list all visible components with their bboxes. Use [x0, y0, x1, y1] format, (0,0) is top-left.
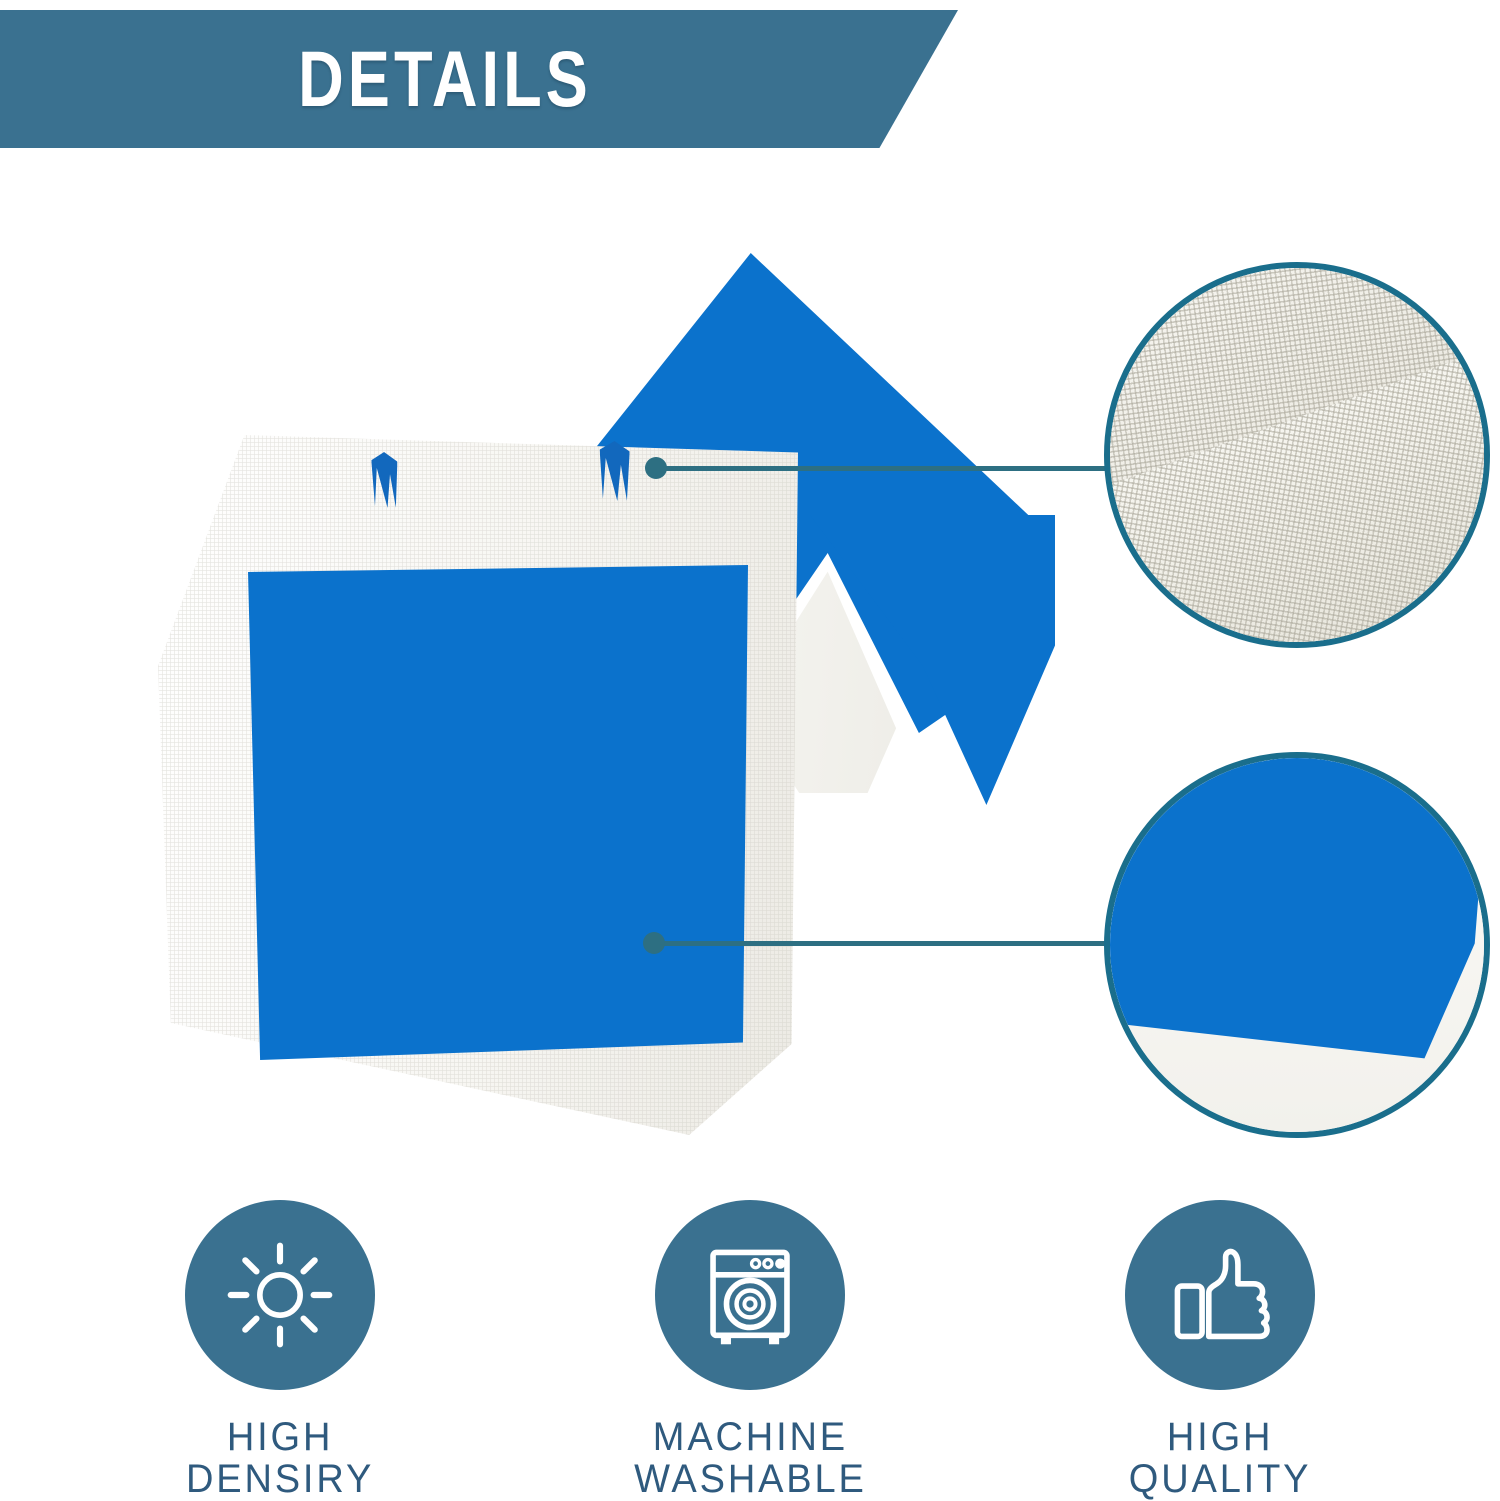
feature-caption-line2: DENSIRY	[186, 1458, 374, 1500]
feature-machine-washable: MACHINE WASHABLE	[600, 1200, 900, 1500]
washing-machine-icon	[694, 1239, 806, 1351]
feature-badge-thumbs-up	[1125, 1200, 1315, 1390]
sun-icon	[224, 1239, 336, 1351]
feature-caption-line1: HIGH	[227, 1415, 333, 1459]
details-header-banner: DETAILS	[0, 10, 958, 148]
feature-caption-line2: WASHABLE	[634, 1458, 867, 1500]
front-towel-blue-panel	[245, 565, 748, 1065]
thumbs-up-icon	[1164, 1239, 1276, 1351]
feature-caption-high-quality: HIGH QUALITY	[1129, 1416, 1312, 1500]
feature-high-quality: HIGH QUALITY	[1070, 1200, 1370, 1500]
connector-dot-print	[643, 932, 665, 954]
feature-caption-high-density: HIGH DENSIRY	[186, 1416, 374, 1500]
feature-caption-line2: QUALITY	[1129, 1458, 1312, 1500]
callout-print-corner	[1104, 752, 1490, 1138]
connector-line-print	[660, 941, 1108, 946]
feature-row: HIGH DENSIRY MACHINE WASHABLE	[0, 1200, 1500, 1492]
feature-high-density: HIGH DENSIRY	[130, 1200, 430, 1500]
page-title: DETAILS	[89, 10, 801, 148]
product-photo	[150, 235, 1100, 1165]
feature-badge-washing-machine	[655, 1200, 845, 1390]
connector-dot-fabric	[645, 457, 667, 479]
feature-caption-machine-washable: MACHINE WASHABLE	[634, 1416, 867, 1500]
feature-caption-line1: MACHINE	[652, 1415, 847, 1459]
connector-line-fabric	[660, 466, 1108, 471]
callout-fabric-weave	[1104, 262, 1490, 648]
feature-badge-sun	[185, 1200, 375, 1390]
feature-caption-line1: HIGH	[1167, 1415, 1273, 1459]
